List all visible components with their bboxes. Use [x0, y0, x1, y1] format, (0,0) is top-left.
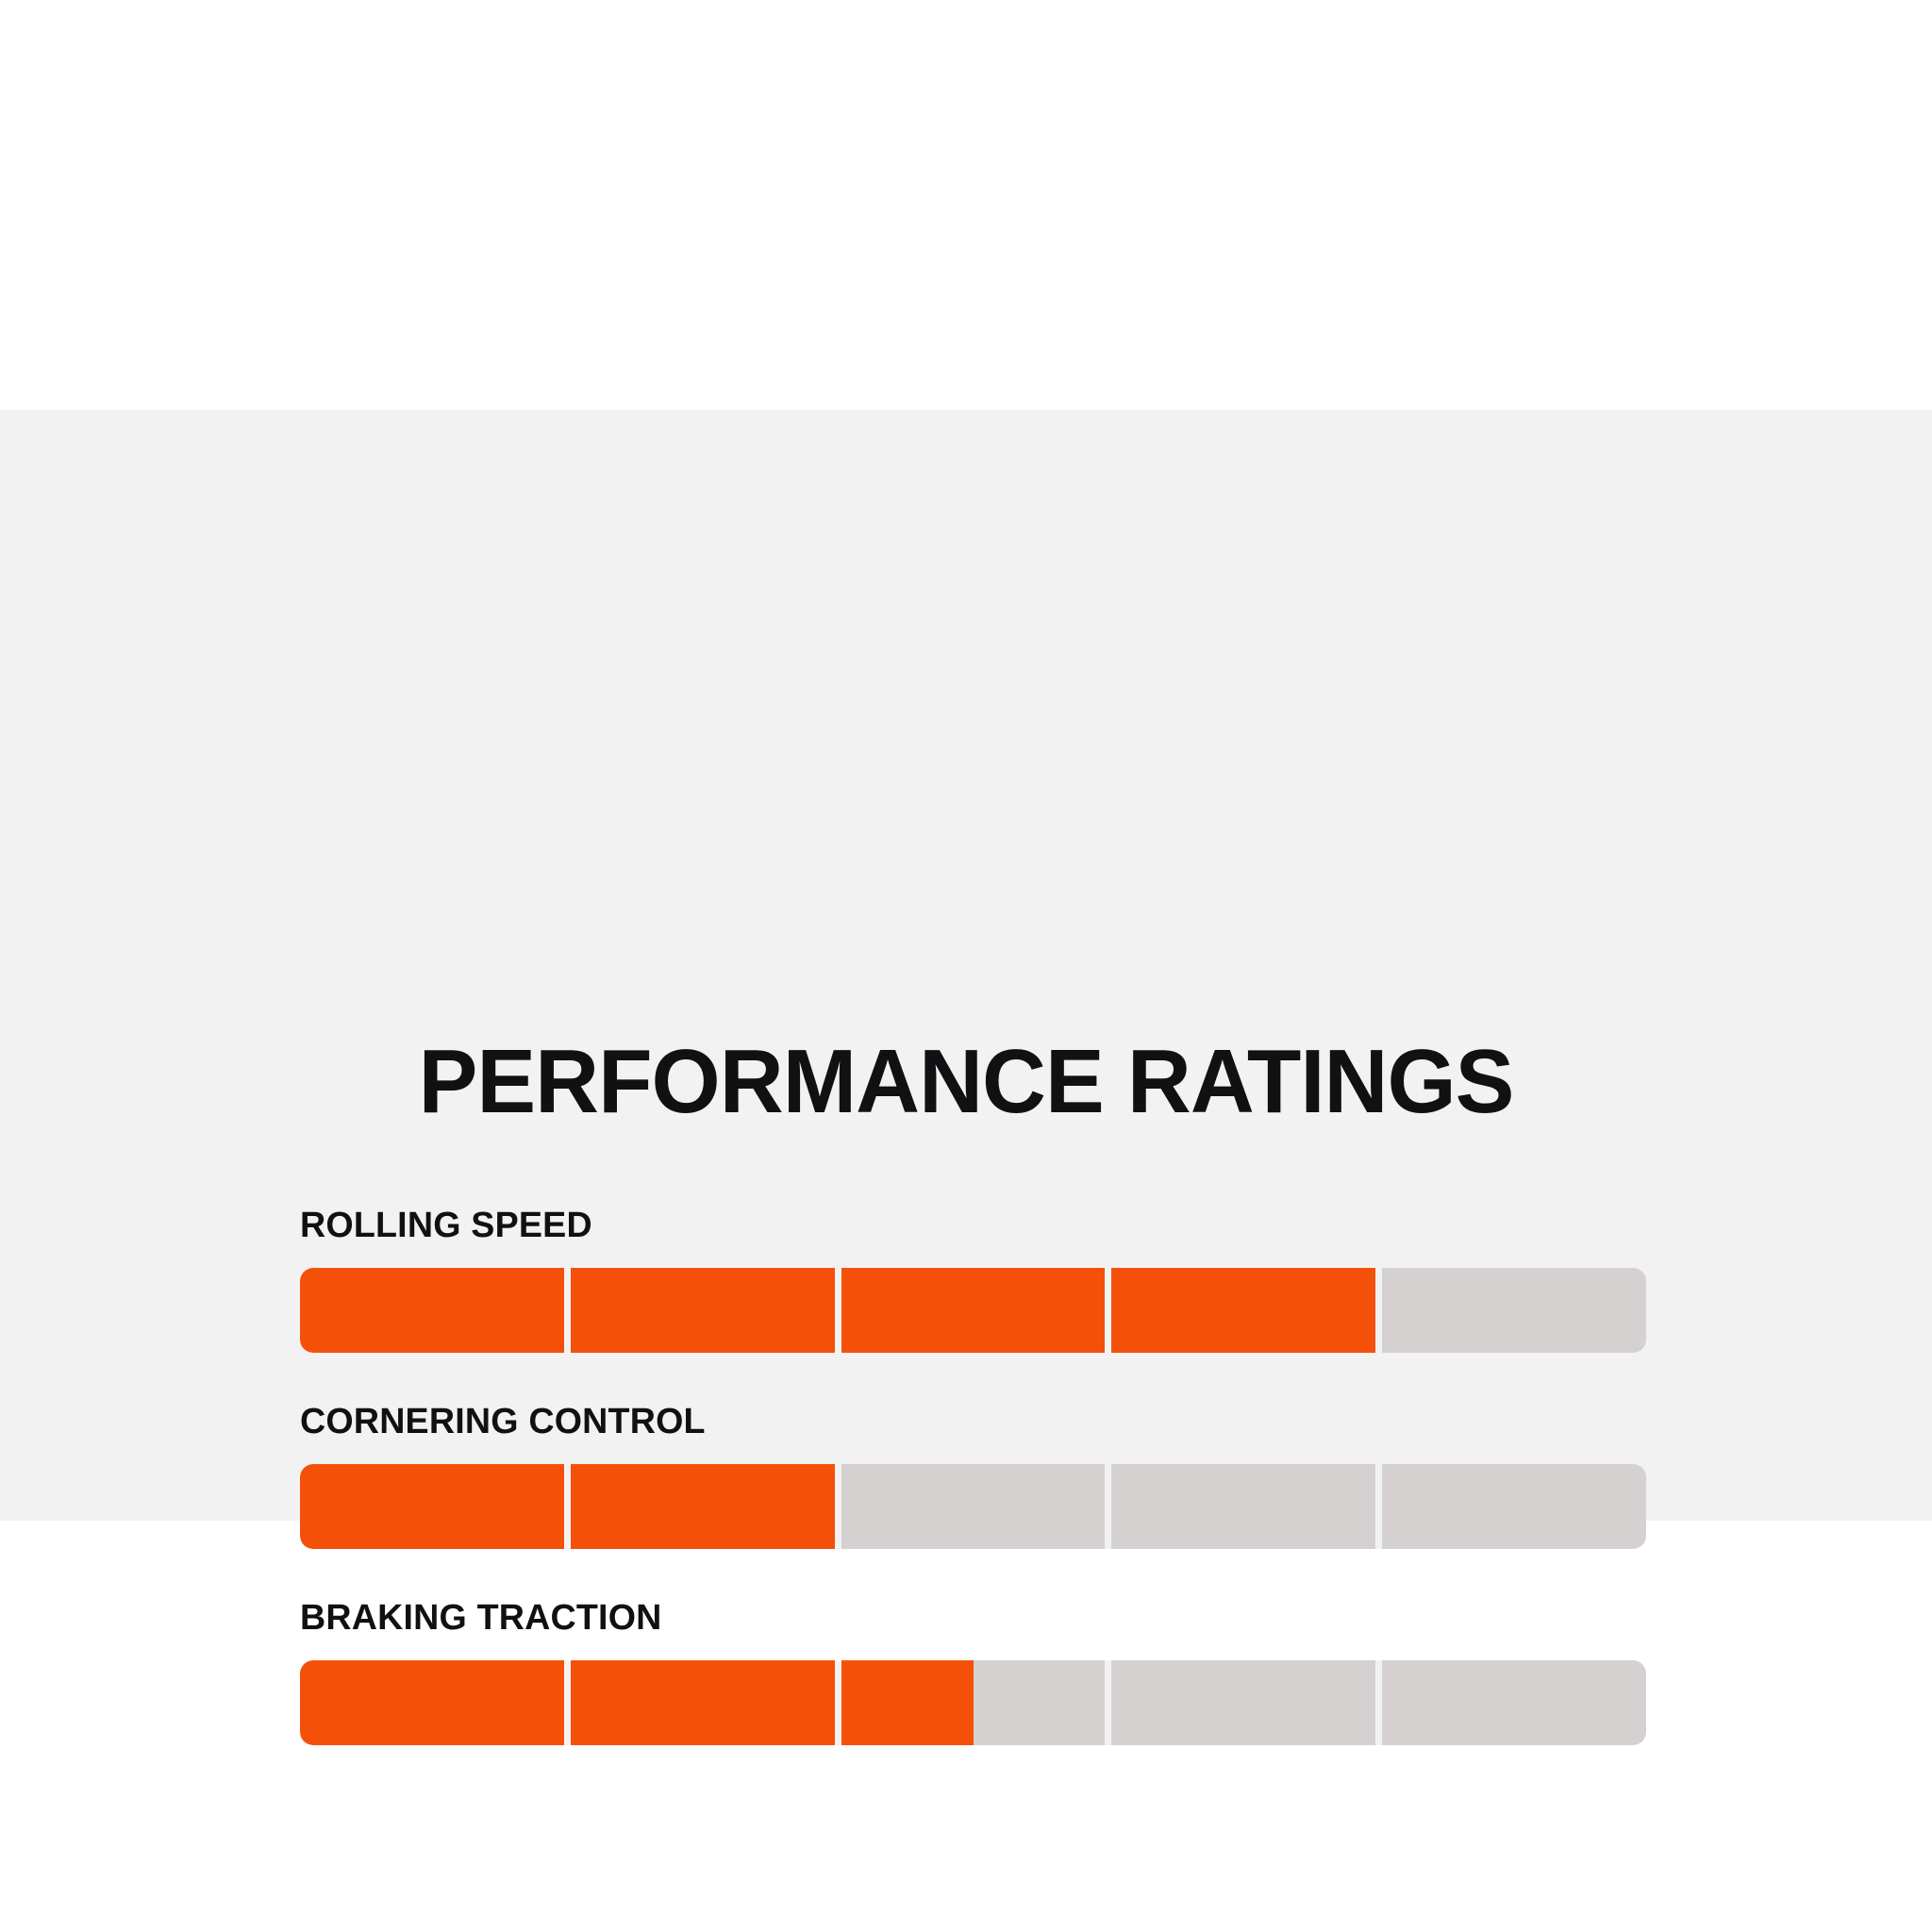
rating-segment — [1105, 1464, 1375, 1549]
rating-segment — [300, 1268, 564, 1353]
rating-segment — [564, 1660, 835, 1745]
rating-segment — [564, 1464, 835, 1549]
rating-label-braking-traction: BRAKING TRACTION — [300, 1600, 1633, 1636]
rating-segment — [564, 1268, 835, 1353]
ratings-list: ROLLING SPEED CORNERING CONTROL — [300, 1207, 1646, 1745]
rating-row: ROLLING SPEED — [300, 1207, 1646, 1353]
performance-ratings-card: PERFORMANCE RATINGS ROLLING SPEED CORNER… — [0, 410, 1932, 1521]
rating-segment — [1105, 1660, 1375, 1745]
rating-segment — [300, 1660, 564, 1745]
rating-bar-braking-traction — [300, 1660, 1646, 1745]
rating-label-cornering-control: CORNERING CONTROL — [300, 1404, 1633, 1440]
rating-label-rolling-speed: ROLLING SPEED — [300, 1207, 1633, 1243]
rating-segment — [1375, 1268, 1646, 1353]
rating-bar-rolling-speed — [300, 1268, 1646, 1353]
rating-segment — [835, 1464, 1106, 1549]
rating-segment — [300, 1464, 564, 1549]
rating-segment — [1375, 1464, 1646, 1549]
rating-segment — [1105, 1268, 1375, 1353]
rating-segment — [1375, 1660, 1646, 1745]
page-title: PERFORMANCE RATINGS — [19, 1037, 1912, 1127]
rating-segment — [835, 1268, 1106, 1353]
rating-row: BRAKING TRACTION — [300, 1600, 1646, 1745]
rating-segment — [835, 1660, 1106, 1745]
screenshot-canvas: PERFORMANCE RATINGS ROLLING SPEED CORNER… — [0, 0, 1932, 1932]
rating-row: CORNERING CONTROL — [300, 1404, 1646, 1549]
rating-bar-cornering-control — [300, 1464, 1646, 1549]
